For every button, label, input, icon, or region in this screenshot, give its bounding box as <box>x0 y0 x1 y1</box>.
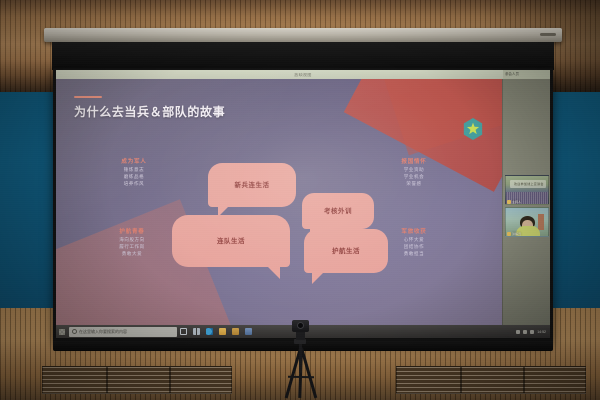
start-button[interactable] <box>56 325 68 338</box>
powerpoint-slide: 为什么去当兵＆部队的故事 成为军人 锤炼意志 磨练品格 培养作风 护航青春 海向… <box>56 79 502 325</box>
speech-bubble-2: 考核外训 <box>302 193 374 229</box>
title-accent-bar <box>74 96 102 98</box>
label-group-heading: 成为军人 <box>108 157 160 165</box>
pagoda-shape <box>538 214 544 230</box>
label-group-heading: 护航青春 <box>106 227 158 235</box>
speech-bubble-4: 护航生活 <box>304 229 388 273</box>
label-group-item: 锤炼意志 <box>108 167 160 174</box>
label-group-top-left: 成为军人 锤炼意志 磨练品格 培养作风 <box>108 157 160 188</box>
label-group-item: 团结协作 <box>386 244 442 251</box>
label-group-bottom-right: 军旅收获 心怀大爱 团结协作 勇敢担当 <box>386 227 442 258</box>
label-group-item: 学业机会 <box>386 174 442 181</box>
label-group-item: 海向股方向 <box>106 237 158 244</box>
camera-lens-icon <box>297 322 304 329</box>
speech-bubble-1: 新兵连生活 <box>208 163 296 207</box>
mic-icon <box>507 232 511 236</box>
speech-bubble-label: 连队生活 <box>217 235 245 245</box>
participant-name: 主持人 <box>512 200 521 204</box>
participant-name: 讲解员 <box>512 232 521 236</box>
label-group-bottom-left: 护航青春 海向股方向 履行工作岗 勇敢大爱 <box>106 227 158 258</box>
search-placeholder: 在这里输入你要搜索的内容 <box>79 329 127 335</box>
speech-bubble-label: 新兵连生活 <box>235 179 270 189</box>
edge-browser-icon[interactable] <box>203 325 216 338</box>
mic-muted-icon <box>507 200 511 204</box>
label-group-item: 勇敢大爱 <box>106 251 158 258</box>
search-input[interactable]: 在这里输入你要搜索的内容 <box>69 327 177 337</box>
wall-vent-right <box>396 366 586 394</box>
label-group-item: 荣誉感 <box>386 181 442 188</box>
label-group-top-right: 报国情怀 学业资助 学业机会 荣誉感 <box>386 157 442 188</box>
video-tile-crowd[interactable]: 欢迎参加线上宣讲会 主持人 <box>505 175 549 205</box>
tripod-leg <box>300 348 317 399</box>
label-group-heading: 军旅收获 <box>386 227 442 235</box>
tray-ime-icon[interactable] <box>530 330 534 334</box>
task-view-icon[interactable] <box>190 325 203 338</box>
tray-volume-icon[interactable] <box>523 330 527 334</box>
label-group-item: 培养作风 <box>108 181 160 188</box>
video-conference-sidebar[interactable]: 参会人员 欢迎参加线上宣讲会 主持人 讲解员 <box>502 79 550 325</box>
screen-black-header <box>52 42 554 70</box>
slide-title: 为什么去当兵＆部队的故事 <box>74 103 225 120</box>
search-icon <box>72 329 77 334</box>
file-explorer-icon[interactable] <box>216 325 229 338</box>
projector-screen-roller <box>44 28 562 42</box>
window-title: 放映视图 <box>294 72 312 77</box>
video-panel-header-label: 参会人员 <box>505 72 519 77</box>
speech-bubble-label: 考核外训 <box>324 205 352 215</box>
video-panel-header: 参会人员 <box>503 70 550 79</box>
camera-mount <box>296 332 305 340</box>
video-tile-speaker[interactable]: 讲解员 <box>505 207 549 237</box>
label-group-item: 磨练品格 <box>108 174 160 181</box>
tile-banner-text: 欢迎参加线上宣讲会 <box>514 182 544 186</box>
roller-endcap <box>540 33 556 36</box>
app-icon[interactable] <box>242 325 255 338</box>
lecture-hall-photo: 放映视图 — □ ✕ 为什么去当兵＆部队的故事 成为军人 锤炼意志 磨练品格 培… <box>0 0 600 400</box>
taskbar-clock[interactable]: 14:52 <box>537 330 546 334</box>
tray-network-icon[interactable] <box>516 330 520 334</box>
wall-vent-left <box>42 366 232 394</box>
label-group-item: 勇敢担当 <box>386 251 442 258</box>
system-tray[interactable]: 14:52 <box>516 330 550 334</box>
windows-logo-icon <box>59 329 65 335</box>
cortana-icon[interactable] <box>177 325 190 338</box>
label-group-item: 学业资助 <box>386 167 442 174</box>
hexagon-star-logo <box>462 117 484 141</box>
presentation-window-titlebar: 放映视图 — □ ✕ <box>56 70 550 79</box>
speech-bubble-3: 连队生活 <box>172 215 290 267</box>
projected-desktop: 放映视图 — □ ✕ 为什么去当兵＆部队的故事 成为军人 锤炼意志 磨练品格 培… <box>56 70 550 338</box>
video-camera-on-tripod <box>268 318 332 400</box>
microsoft-store-icon[interactable] <box>229 325 242 338</box>
tripod-center-column <box>299 343 302 373</box>
label-group-item: 心怀大爱 <box>386 237 442 244</box>
speech-bubble-label: 护航生活 <box>332 245 360 255</box>
label-group-heading: 报国情怀 <box>386 157 442 165</box>
label-group-item: 履行工作岗 <box>106 244 158 251</box>
